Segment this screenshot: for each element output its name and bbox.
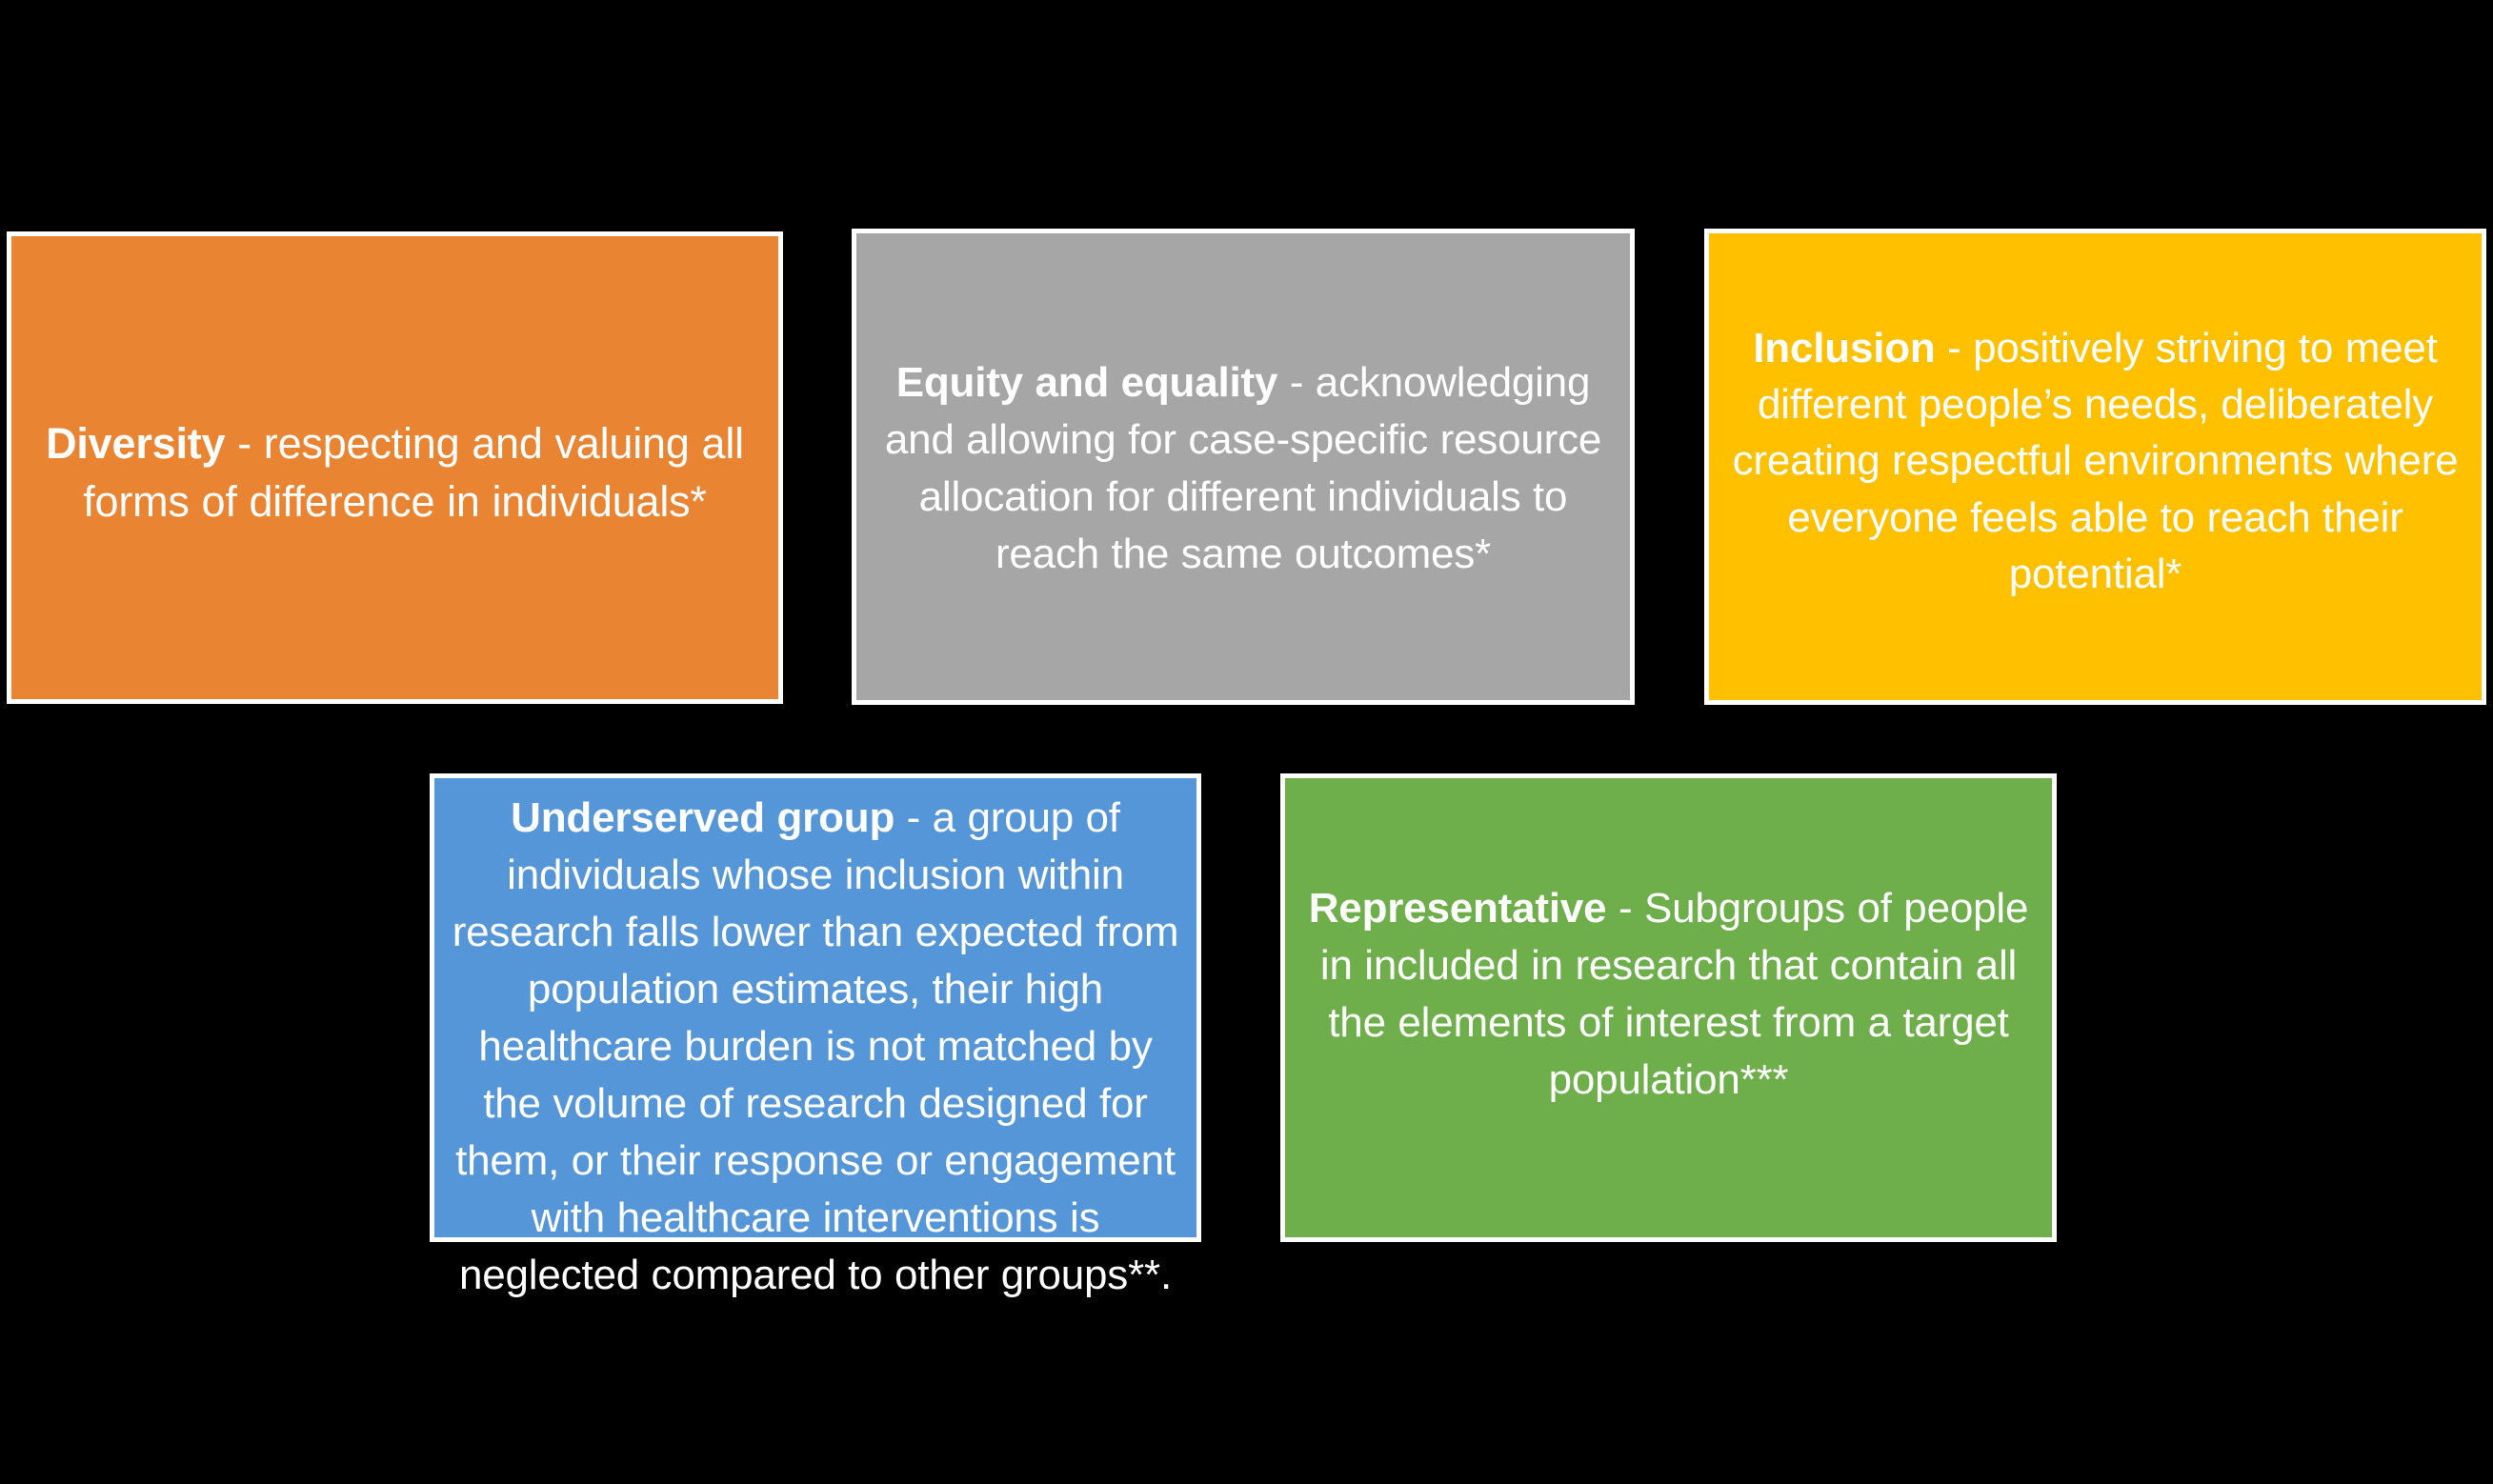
concept-separator-equity-and-equality: - — [1277, 359, 1316, 406]
concept-separator-representative: - — [1606, 885, 1644, 932]
concept-box-inclusion[interactable]: Inclusion - positively striving to meet … — [1704, 229, 2486, 705]
diagram-canvas: Diversity - respecting and valuing all f… — [0, 0, 2493, 1484]
concept-box-representative[interactable]: Representative - Subgroups of people in … — [1280, 773, 2057, 1242]
concept-text-inclusion: Inclusion - positively striving to meet … — [1726, 320, 2464, 602]
concept-text-underserved-group: Underserved group - a group of individua… — [452, 778, 1179, 1304]
concept-box-diversity[interactable]: Diversity - respecting and valuing all f… — [7, 231, 783, 704]
concept-box-underserved-group[interactable]: Underserved group - a group of individua… — [430, 773, 1201, 1242]
concept-separator-diversity: - — [225, 419, 263, 468]
concept-definition-underserved-group: a group of individuals whose inclusion w… — [452, 794, 1179, 1298]
concept-text-diversity: Diversity - respecting and valuing all f… — [29, 415, 761, 531]
concept-term-underserved-group: Underserved group — [511, 794, 895, 841]
concept-term-inclusion: Inclusion — [1753, 325, 1935, 371]
concept-separator-underserved-group: - — [895, 794, 933, 841]
concept-text-equity-and-equality: Equity and equality - acknowledging and … — [874, 354, 1613, 582]
concept-box-equity-and-equality[interactable]: Equity and equality - acknowledging and … — [852, 229, 1635, 705]
concept-term-diversity: Diversity — [46, 419, 225, 468]
concept-separator-inclusion: - — [1936, 325, 1974, 371]
concept-term-representative: Representative — [1309, 885, 1607, 932]
concept-term-equity-and-equality: Equity and equality — [896, 359, 1278, 406]
concept-text-representative: Representative - Subgroups of people in … — [1302, 880, 2035, 1108]
